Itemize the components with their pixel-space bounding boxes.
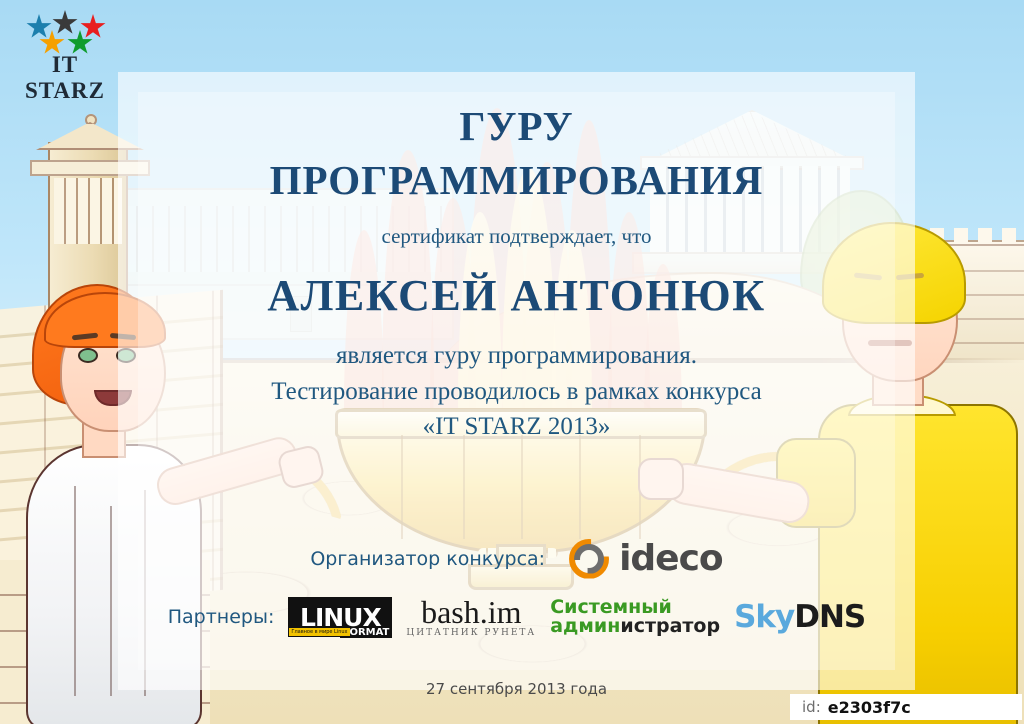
bash-im-logo: bash.im ЦИТАТНИК РУНЕТА — [406, 596, 536, 638]
id-label: id: — [802, 698, 821, 716]
partners-row: Партнеры: LINUX FORMAT Главное в мире Li… — [118, 596, 915, 638]
sysadmin-line-2-dark: истратор — [620, 615, 720, 637]
body-line-1: является гуру программирования. — [118, 338, 915, 374]
body-line-3: «IT STARZ 2013» — [118, 409, 915, 445]
linux-format-word: LINUX — [300, 605, 381, 630]
confirmation-text: сертификат подтверждает, что — [118, 224, 915, 249]
star-red-icon — [80, 14, 106, 40]
sysadmin-line-2: администратор — [550, 617, 720, 636]
certificate-canvas: ГУРУ ПРОГРАММИРОВАНИЯ сертификат подтвер… — [0, 0, 1024, 724]
sysadmin-line-2-green: админ — [550, 615, 620, 637]
linux-format-tagline: Главное в мире Linux — [289, 628, 349, 636]
body-line-2: Тестирование проводилось в рамках конкур… — [118, 374, 915, 410]
ideco-swirl-icon — [569, 539, 609, 579]
star-black-icon — [52, 10, 78, 36]
title-line-1: ГУРУ — [118, 106, 915, 147]
it-starz-logo: IT STARZ — [10, 8, 120, 86]
id-value: e2303f7c — [828, 698, 911, 717]
ideco-logo: ideco — [569, 538, 723, 579]
recipient-name: АЛЕКСЕЙ АНТОНЮК — [118, 270, 915, 321]
organizer-label: Организатор конкурса: — [310, 548, 545, 570]
id-badge: id: e2303f7c — [790, 694, 1022, 720]
certificate-content: ГУРУ ПРОГРАММИРОВАНИЯ сертификат подтвер… — [118, 72, 915, 690]
bash-im-word: bash.im — [421, 596, 521, 628]
sistemny-administrator-logo: Системный администратор — [550, 598, 720, 636]
bash-im-tagline: ЦИТАТНИК РУНЕТА — [406, 629, 536, 638]
skydns-sky: Sky — [734, 599, 794, 635]
organizer-row: Организатор конкурса: ideco — [118, 538, 915, 579]
partners-label: Партнеры: — [168, 606, 275, 628]
linux-format-logo: LINUX FORMAT Главное в мире Linux — [288, 597, 392, 637]
star-blue-icon — [26, 14, 52, 40]
body-text: является гуру программирования. Тестиров… — [118, 338, 915, 445]
it-starz-wordmark: IT STARZ — [12, 52, 118, 104]
skydns-logo: SkyDNS — [734, 602, 865, 633]
skydns-dns: DNS — [794, 599, 865, 635]
ideco-wordmark: ideco — [619, 538, 723, 579]
title-line-2: ПРОГРАММИРОВАНИЯ — [118, 160, 915, 201]
woman-eye — [78, 348, 98, 363]
tower-columns — [54, 178, 122, 244]
